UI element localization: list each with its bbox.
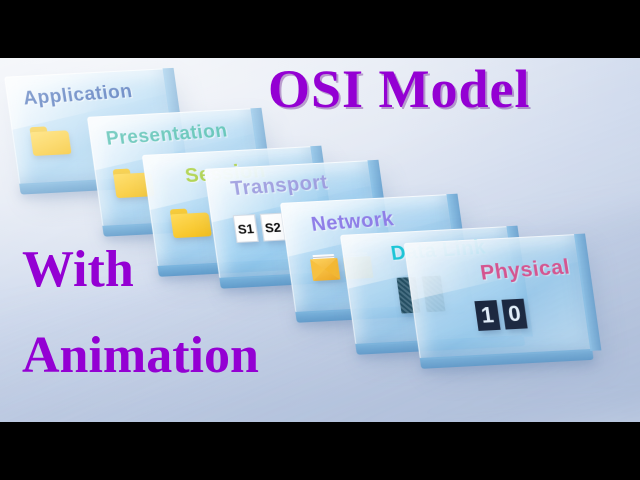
subtitle-line-1: With — [22, 244, 134, 296]
letterbox-bar-bottom — [0, 422, 640, 480]
layer-icons-physical: 1 0 — [474, 299, 527, 331]
panel-glass — [340, 226, 524, 346]
layer-icons-presentation — [113, 167, 155, 198]
layer-panel-transport: Transport S1 S2 — [204, 160, 385, 280]
subtitle-line-2: Animation — [22, 330, 259, 382]
frame-block-icon — [397, 277, 421, 314]
layer-icons-data-link — [397, 276, 446, 314]
panel-edge-right — [163, 68, 189, 178]
layer-label-data-link: Data Link — [389, 237, 487, 266]
layer-label-application: Application — [22, 81, 134, 110]
envelope-icon — [343, 256, 373, 279]
layer-panel-physical: Physical 1 0 — [404, 234, 593, 360]
folder-icon — [113, 167, 155, 198]
layer-icons-transport: S1 S2 — [233, 213, 286, 243]
panel-edge-bottom — [19, 175, 181, 194]
layer-label-transport: Transport — [229, 172, 329, 202]
panel-edge-right — [446, 194, 473, 305]
layer-icons-session — [170, 207, 212, 238]
layer-panel-application: Application — [4, 68, 180, 185]
panel-edge-right — [367, 160, 394, 271]
floor-shadow — [0, 197, 640, 422]
layer-label-presentation: Presentation — [105, 121, 230, 151]
panel-edge-right — [574, 234, 601, 351]
layer-panel-presentation: Presentation — [87, 108, 268, 228]
segment-tile: S1 — [233, 214, 259, 243]
segment-tile: S2 — [260, 213, 286, 242]
panel-edge-right — [250, 108, 277, 219]
panel-edge-bottom — [157, 257, 329, 277]
panel-glass — [87, 108, 268, 228]
panel-edge-bottom — [355, 335, 525, 355]
thumbnail-canvas: Application Presentation Ses — [0, 0, 640, 480]
envelope-icon — [310, 258, 340, 281]
folder-icon — [170, 207, 212, 238]
bit-tile: 1 — [474, 300, 500, 331]
panel-edge-bottom — [295, 303, 465, 323]
layer-label-physical: Physical — [479, 256, 572, 286]
layer-icons-application — [29, 125, 71, 156]
letterbox-bar-top — [0, 0, 640, 58]
panel-edge-bottom — [102, 217, 269, 237]
frame-block-icon — [422, 276, 446, 313]
folder-icon — [29, 125, 71, 156]
panel-edge-right — [506, 226, 533, 337]
panel-edge-right — [310, 146, 337, 259]
panel-glass — [4, 68, 180, 185]
panel-edge-bottom — [420, 349, 594, 369]
layer-label-session: Session — [184, 160, 268, 188]
panel-glass — [280, 194, 464, 314]
layer-panel-data-link: Data Link — [340, 226, 524, 346]
page-title: OSI Model — [268, 62, 531, 116]
panel-glass — [204, 160, 385, 280]
bit-tile: 0 — [501, 299, 527, 330]
layer-icons-network — [310, 256, 373, 281]
panel-glass — [404, 234, 593, 360]
layer-panel-network: Network — [280, 194, 464, 314]
layer-panel-session: Session — [142, 146, 328, 268]
layer-label-network: Network — [310, 208, 396, 237]
panel-edge-bottom — [219, 269, 386, 289]
panel-glass — [142, 146, 328, 268]
